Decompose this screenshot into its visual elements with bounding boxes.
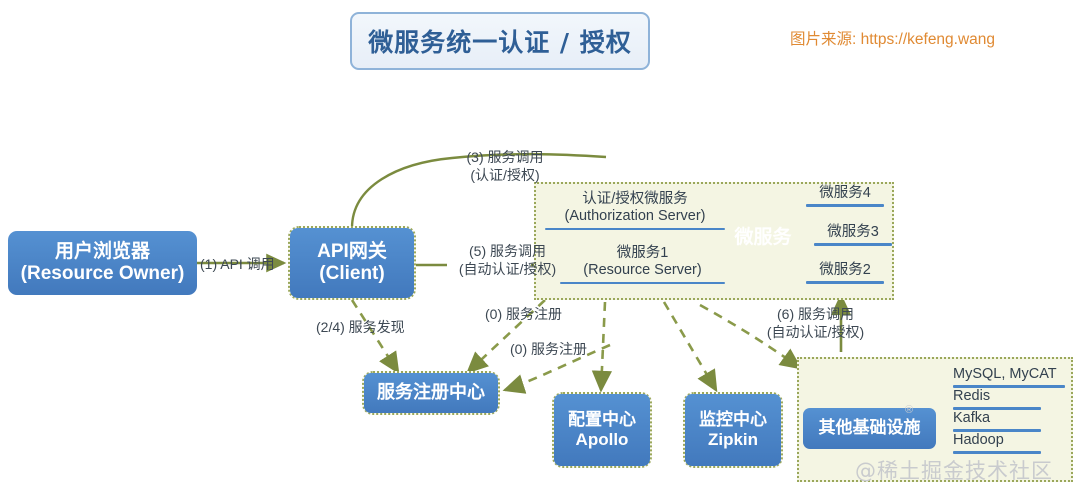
mindmap-label-auth-line2: (Authorization Server) — [564, 208, 705, 224]
mindmap-underline-auth — [545, 228, 725, 231]
annotation-service-register-1: (0) 服务注册 — [485, 305, 562, 323]
mindmap-label-ms3-line1: 微服务3 — [827, 224, 879, 240]
diagram-canvas: 微服务统一认证 / 授权 图片来源: https://kefeng.wang 用… — [0, 0, 1080, 491]
mindmap-hub-label: 微服务 — [734, 227, 791, 248]
site-watermark: @稀土掘金技术社区 — [855, 455, 1053, 485]
annotation-service-call-3-line1: (3) 服务调用 — [467, 149, 544, 165]
node-other-infrastructure[interactable]: 其他基础设施 — [803, 408, 936, 449]
node-service-registry[interactable]: 服务注册中心 — [364, 373, 498, 413]
page-title: 微服务统一认证 / 授权 — [368, 23, 632, 59]
source-credit: 图片来源: https://kefeng.wang — [790, 27, 995, 49]
infra-item-redis-label: Redis — [953, 388, 990, 404]
mindmap-underline-ms4 — [806, 204, 884, 207]
annotation-service-discovery: (2/4) 服务发现 — [316, 318, 405, 336]
node-user-browser[interactable]: 用户浏览器 (Resource Owner) — [8, 231, 197, 295]
mindmap-label-ms1-line2: (Resource Server) — [583, 262, 701, 278]
annotation-service-register-1-line1: (0) 服务注册 — [485, 306, 562, 322]
annotation-api-call-line1: (1) API 调用 — [200, 256, 275, 272]
config-center-wrapper: 配置中心 Apollo — [552, 392, 652, 468]
node-config-center[interactable]: 配置中心 Apollo — [554, 394, 650, 466]
node-config-center-line1: 配置中心 — [568, 410, 636, 430]
mindmap-label-auth[interactable]: 认证/授权微服务 (Authorization Server) — [545, 191, 725, 230]
node-monitor-center[interactable]: 监控中心 Zipkin — [685, 394, 781, 466]
monitor-center-wrapper: 监控中心 Zipkin — [683, 392, 783, 468]
annotation-service-register-2: (0) 服务注册 — [510, 340, 587, 358]
node-user-browser-line1: 用户浏览器 — [55, 241, 150, 263]
mindmap-label-ms2[interactable]: 微服务2 — [806, 262, 884, 284]
annotation-service-call-6-line2: (自动认证/授权) — [767, 324, 864, 340]
annotation-service-call-3: (3) 服务调用 (认证/授权) — [440, 148, 570, 185]
api-gateway-wrapper: API网关 (Client) — [288, 226, 416, 300]
annotation-service-call-6-line1: (6) 服务调用 — [777, 306, 854, 322]
node-api-gateway[interactable]: API网关 (Client) — [290, 228, 414, 298]
registered-mark-icon: ® — [905, 404, 913, 416]
mindmap-label-ms2-line1: 微服务2 — [819, 262, 871, 278]
node-service-registry-line1: 服务注册中心 — [377, 382, 485, 403]
node-monitor-center-line1: 监控中心 — [699, 410, 767, 430]
infra-item-hadoop[interactable]: Hadoop — [953, 432, 1041, 454]
diagram-title-box: 微服务统一认证 / 授权 — [350, 12, 650, 70]
annotation-service-register-2-line1: (0) 服务注册 — [510, 341, 587, 357]
infra-item-hadoop-label: Hadoop — [953, 432, 1004, 448]
annotation-service-call-5: (5) 服务调用 (自动认证/授权) — [430, 242, 585, 279]
mindmap-label-auth-line1: 认证/授权微服务 — [582, 191, 688, 207]
infra-item-redis[interactable]: Redis — [953, 388, 1041, 410]
mindmap-label-ms3[interactable]: 微服务3 — [814, 224, 892, 246]
node-other-infrastructure-line1: 其他基础设施 — [819, 418, 921, 438]
annotation-api-call: (1) API 调用 — [200, 255, 275, 273]
node-api-gateway-line1: API网关 — [317, 241, 387, 263]
mindmap-underline-ms2 — [806, 281, 884, 284]
mindmap-underline-ms3 — [814, 243, 892, 246]
mindmap-label-ms1-line1: 微服务1 — [617, 245, 669, 261]
node-user-browser-line2: (Resource Owner) — [21, 263, 185, 285]
mindmap-label-ms4-line1: 微服务4 — [819, 185, 871, 201]
mindmap-underline-ms1 — [560, 282, 725, 285]
annotation-service-call-5-line2: (自动认证/授权) — [459, 261, 556, 277]
annotation-service-call-5-line1: (5) 服务调用 — [469, 243, 546, 259]
arrow-to-config-center — [601, 302, 605, 390]
registry-wrapper: 服务注册中心 — [362, 371, 500, 415]
annotation-service-call-3-line2: (认证/授权) — [470, 167, 539, 183]
infra-underline-hadoop — [953, 451, 1041, 454]
node-config-center-line2: Apollo — [576, 430, 629, 450]
infra-item-mysql-label: MySQL, MyCAT — [953, 366, 1057, 382]
mindmap-hub-microservices[interactable]: 微服务 — [720, 222, 806, 249]
infra-item-mysql[interactable]: MySQL, MyCAT — [953, 366, 1065, 388]
node-api-gateway-line2: (Client) — [319, 263, 384, 285]
annotation-service-discovery-line1: (2/4) 服务发现 — [316, 319, 405, 335]
infra-item-kafka[interactable]: Kafka — [953, 410, 1041, 432]
node-monitor-center-line2: Zipkin — [708, 430, 758, 450]
arrow-to-monitor-center — [664, 302, 716, 390]
infra-item-kafka-label: Kafka — [953, 410, 990, 426]
annotation-service-call-6: (6) 服务调用 (自动认证/授权) — [738, 305, 893, 342]
mindmap-label-ms4[interactable]: 微服务4 — [806, 185, 884, 207]
user-browser-wrapper: 用户浏览器 (Resource Owner) — [8, 231, 197, 295]
